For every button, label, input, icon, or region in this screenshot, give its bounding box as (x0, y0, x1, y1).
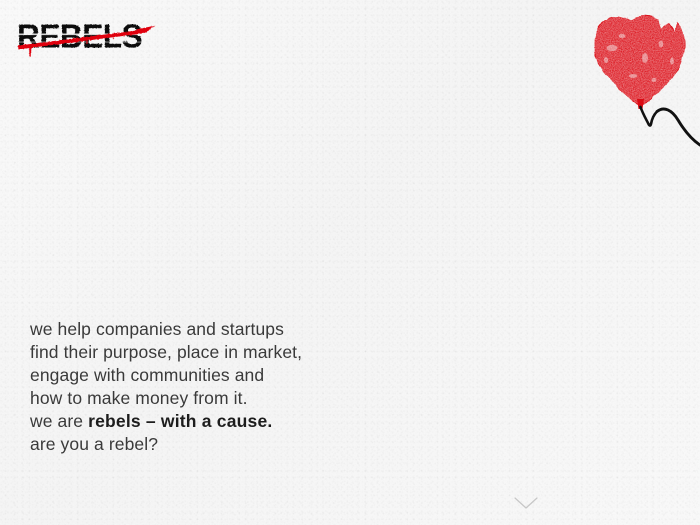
landing-page: REBELS (0, 0, 700, 525)
scroll-down-cue[interactable] (512, 494, 540, 512)
copy-line-3: engage with communities and (30, 364, 450, 387)
copy-line-4: how to make money from it. (30, 387, 450, 410)
heart-balloon-icon (588, 6, 700, 156)
copy-line-1: we help companies and startups (30, 318, 450, 341)
balloon-string (641, 107, 700, 145)
hero-copy: we help companies and startups find thei… (30, 318, 450, 456)
copy-question: are you a rebel? (30, 433, 450, 456)
chevron-down-icon (512, 494, 540, 512)
tagline-prefix: we are (30, 411, 88, 431)
heart-balloon (588, 6, 700, 156)
tagline-strong: rebels – with a cause. (88, 411, 272, 431)
rebels-wordmark-icon: REBELS (16, 12, 166, 58)
copy-line-2: find their purpose, place in market, (30, 341, 450, 364)
site-logo[interactable]: REBELS (16, 12, 166, 58)
copy-tagline: we are rebels – with a cause. (30, 410, 450, 433)
logo-text: REBELS (17, 18, 142, 55)
